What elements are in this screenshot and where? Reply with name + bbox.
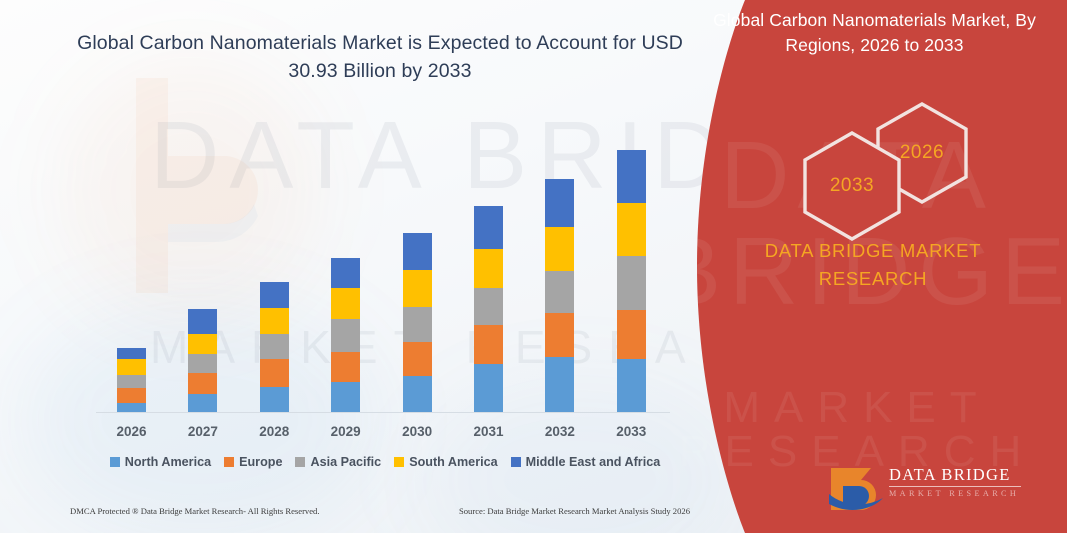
bar-segment-2033-s2 bbox=[617, 256, 646, 309]
hexagon-2033: 2033 bbox=[798, 129, 906, 243]
stacked-bar-chart: 20262027202820292030203120322033 bbox=[0, 0, 760, 533]
bar-segment-2027-s3 bbox=[188, 334, 217, 353]
dbmr-logo: DATA BRIDGE MARKET RESEARCH bbox=[827, 462, 1042, 514]
bar-segment-2033-s1 bbox=[617, 310, 646, 359]
bar-2026 bbox=[117, 348, 146, 412]
legend-item-0[interactable]: North America bbox=[110, 455, 211, 469]
bar-2033 bbox=[617, 150, 646, 412]
bar-segment-2029-s2 bbox=[331, 319, 360, 352]
hexagon-2033-label: 2033 bbox=[798, 129, 906, 243]
footer-copyright: DMCA Protected ® Data Bridge Market Rese… bbox=[70, 506, 320, 516]
bar-segment-2033-s0 bbox=[617, 359, 646, 412]
dbmr-logo-name: DATA BRIDGE bbox=[889, 466, 1039, 484]
legend-item-1[interactable]: Europe bbox=[224, 455, 282, 469]
x-tick-2030: 2030 bbox=[380, 424, 454, 439]
bar-segment-2026-s2 bbox=[117, 375, 146, 387]
dbmr-logo-rule bbox=[889, 486, 1021, 487]
bar-segment-2031-s1 bbox=[474, 325, 503, 364]
legend-label-2: Asia Pacific bbox=[310, 455, 381, 469]
bar-segment-2029-s0 bbox=[331, 382, 360, 412]
bar-segment-2028-s0 bbox=[260, 387, 289, 412]
chart-panel: DATA BRIDGE MARKET RESEARCH Global Carbo… bbox=[0, 0, 760, 533]
brand-panel-title: Global Carbon Nanomaterials Market, By R… bbox=[697, 8, 1052, 58]
x-tick-2027: 2027 bbox=[166, 424, 240, 439]
bar-2032 bbox=[545, 179, 574, 412]
x-tick-2031: 2031 bbox=[452, 424, 526, 439]
bar-2030 bbox=[403, 233, 432, 412]
bar-2029 bbox=[331, 258, 360, 412]
bar-segment-2032-s2 bbox=[545, 271, 574, 313]
brand-name-line-2: RESEARCH bbox=[723, 265, 1023, 293]
legend-swatch-icon-2 bbox=[295, 457, 305, 467]
legend-swatch-icon-4 bbox=[511, 457, 521, 467]
legend-label-4: Middle East and Africa bbox=[526, 455, 661, 469]
bar-segment-2030-s2 bbox=[403, 307, 432, 343]
bar-segment-2033-s4 bbox=[617, 150, 646, 203]
bar-segment-2027-s4 bbox=[188, 309, 217, 335]
bar-segment-2032-s4 bbox=[545, 179, 574, 227]
bar-segment-2029-s4 bbox=[331, 258, 360, 289]
bar-segment-2030-s1 bbox=[403, 342, 432, 376]
bar-segment-2026-s0 bbox=[117, 403, 146, 412]
legend-label-0: North America bbox=[125, 455, 211, 469]
legend-item-4[interactable]: Middle East and Africa bbox=[511, 455, 661, 469]
bar-2028 bbox=[260, 282, 289, 412]
footer-source: Source: Data Bridge Market Research Mark… bbox=[459, 506, 690, 516]
legend-item-2[interactable]: Asia Pacific bbox=[295, 455, 381, 469]
bar-segment-2031-s3 bbox=[474, 249, 503, 288]
bar-segment-2026-s1 bbox=[117, 388, 146, 403]
bar-segment-2033-s3 bbox=[617, 203, 646, 256]
bar-segment-2028-s1 bbox=[260, 359, 289, 388]
bar-segment-2031-s2 bbox=[474, 288, 503, 325]
bar-segment-2026-s4 bbox=[117, 348, 146, 359]
bar-segment-2029-s3 bbox=[331, 288, 360, 319]
bar-segment-2028-s3 bbox=[260, 308, 289, 335]
brand-title-line-1: Global Carbon Nanomaterials Market, bbox=[713, 10, 1010, 30]
bar-segment-2028-s4 bbox=[260, 282, 289, 308]
bar-segment-2030-s3 bbox=[403, 270, 432, 307]
bar-segment-2029-s1 bbox=[331, 352, 360, 383]
brand-panel: DATA BRIDGE MARKET RESEARCH Global Carbo… bbox=[667, 0, 1067, 533]
dbmr-logo-text: DATA BRIDGE MARKET RESEARCH bbox=[889, 466, 1039, 498]
infographic-root: DATA BRIDGE MARKET RESEARCH Global Carbo… bbox=[0, 0, 1067, 533]
bar-segment-2031-s4 bbox=[474, 206, 503, 249]
x-tick-2028: 2028 bbox=[237, 424, 311, 439]
bar-segment-2032-s1 bbox=[545, 313, 574, 357]
legend-swatch-icon-0 bbox=[110, 457, 120, 467]
bar-segment-2027-s1 bbox=[188, 373, 217, 393]
x-tick-2026: 2026 bbox=[95, 424, 169, 439]
footer: DMCA Protected ® Data Bridge Market Rese… bbox=[70, 506, 690, 516]
bar-segment-2030-s4 bbox=[403, 233, 432, 270]
bar-segment-2027-s2 bbox=[188, 354, 217, 373]
legend-label-1: Europe bbox=[239, 455, 282, 469]
bar-2027 bbox=[188, 309, 217, 412]
bar-2031 bbox=[474, 206, 503, 412]
legend-swatch-icon-1 bbox=[224, 457, 234, 467]
brand-name-line-1: DATA BRIDGE MARKET bbox=[723, 237, 1023, 265]
bar-segment-2032-s0 bbox=[545, 357, 574, 412]
bar-segment-2030-s0 bbox=[403, 376, 432, 412]
x-tick-2033: 2033 bbox=[594, 424, 668, 439]
legend-label-3: South America bbox=[409, 455, 497, 469]
x-axis-line bbox=[96, 412, 670, 413]
legend-item-3[interactable]: South America bbox=[394, 455, 497, 469]
bar-segment-2026-s3 bbox=[117, 359, 146, 375]
brand-name-text: DATA BRIDGE MARKET RESEARCH bbox=[723, 237, 1023, 293]
legend-swatch-icon-3 bbox=[394, 457, 404, 467]
bar-segment-2031-s0 bbox=[474, 364, 503, 412]
bar-segment-2028-s2 bbox=[260, 334, 289, 359]
bar-segment-2032-s3 bbox=[545, 227, 574, 271]
chart-legend: North AmericaEuropeAsia PacificSouth Ame… bbox=[96, 455, 674, 469]
bar-segment-2027-s0 bbox=[188, 394, 217, 412]
x-tick-2032: 2032 bbox=[523, 424, 597, 439]
dbmr-logo-tagline: MARKET RESEARCH bbox=[889, 489, 1039, 498]
dbmr-logo-mark-icon bbox=[827, 464, 885, 514]
x-tick-2029: 2029 bbox=[309, 424, 383, 439]
